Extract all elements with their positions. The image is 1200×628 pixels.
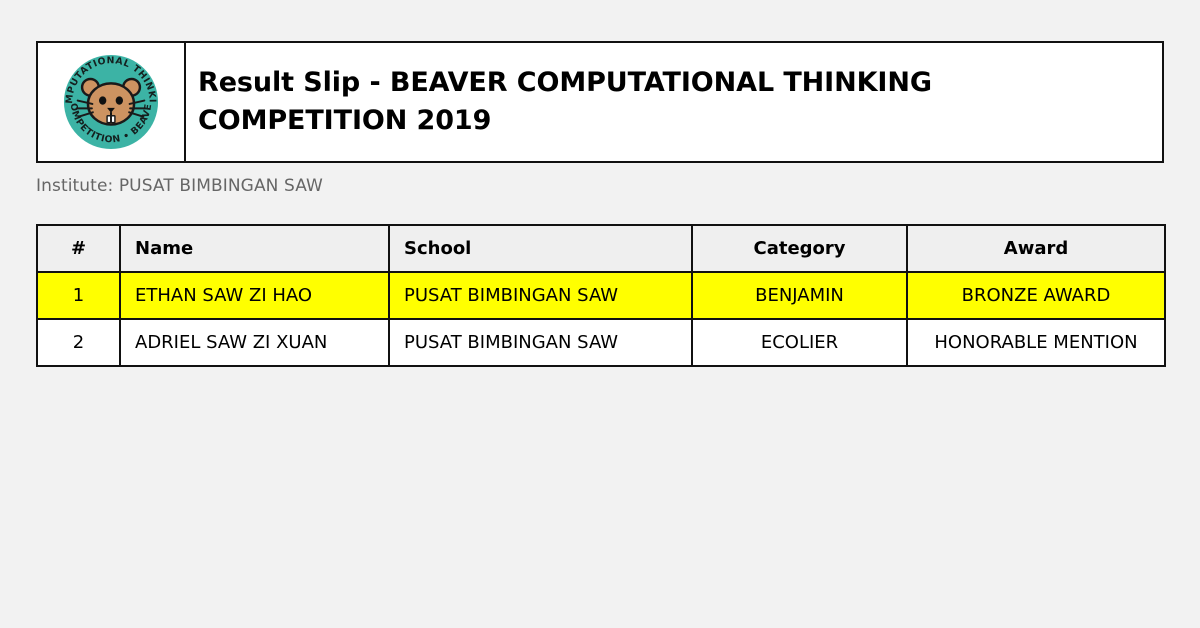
institute-label: Institute: PUSAT BIMBINGAN SAW: [36, 176, 323, 196]
cell-school: PUSAT BIMBINGAN SAW: [389, 272, 692, 319]
header-banner: COMPUTATIONAL THINKING COMPETITION • BEA…: [36, 41, 1164, 163]
column-header-num: #: [37, 225, 120, 272]
table-row: 2 ADRIEL SAW ZI XUAN PUSAT BIMBINGAN SAW…: [37, 319, 1165, 366]
results-table-wrap: # Name School Category Award 1 ETHAN SAW…: [36, 224, 1164, 367]
cell-award: HONORABLE MENTION: [907, 319, 1165, 366]
column-header-category: Category: [692, 225, 907, 272]
cell-award: BRONZE AWARD: [907, 272, 1165, 319]
cell-category: BENJAMIN: [692, 272, 907, 319]
column-header-award: Award: [907, 225, 1165, 272]
beaver-logo: COMPUTATIONAL THINKING COMPETITION • BEA…: [62, 53, 160, 151]
column-header-school: School: [389, 225, 692, 272]
cell-num: 1: [37, 272, 120, 319]
results-table: # Name School Category Award 1 ETHAN SAW…: [36, 224, 1166, 367]
table-header: # Name School Category Award: [37, 225, 1165, 272]
result-slip-page: COMPUTATIONAL THINKING COMPETITION • BEA…: [0, 0, 1200, 628]
cell-num: 2: [37, 319, 120, 366]
table-row: 1 ETHAN SAW ZI HAO PUSAT BIMBINGAN SAW B…: [37, 272, 1165, 319]
cell-name: ETHAN SAW ZI HAO: [120, 272, 389, 319]
cell-name: ADRIEL SAW ZI XUAN: [120, 319, 389, 366]
logo-cell: COMPUTATIONAL THINKING COMPETITION • BEA…: [38, 43, 186, 161]
cell-school: PUSAT BIMBINGAN SAW: [389, 319, 692, 366]
page-title: Result Slip - BEAVER COMPUTATIONAL THINK…: [198, 64, 1018, 141]
cell-category: ECOLIER: [692, 319, 907, 366]
title-cell: Result Slip - BEAVER COMPUTATIONAL THINK…: [186, 43, 1162, 161]
column-header-name: Name: [120, 225, 389, 272]
table-header-row: # Name School Category Award: [37, 225, 1165, 272]
table-body: 1 ETHAN SAW ZI HAO PUSAT BIMBINGAN SAW B…: [37, 272, 1165, 366]
